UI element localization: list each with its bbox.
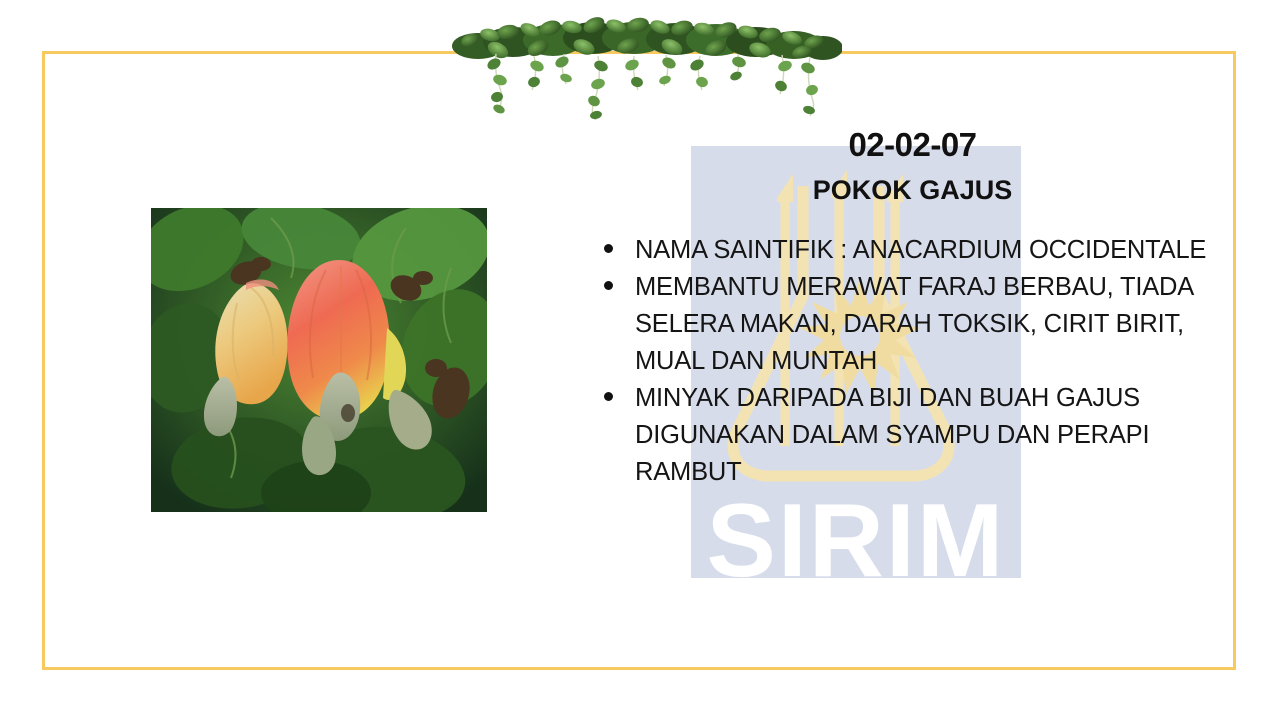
- bullet-dot-icon: [604, 392, 613, 401]
- slide-canvas: SIRIM 02-02-07 POKOK GAJUS NAMA SAINTIFI…: [0, 0, 1280, 720]
- list-item: MEMBANTU MERAWAT FARAJ BERBAU, TIADA SEL…: [560, 269, 1220, 380]
- page-title-code: 02-02-07: [560, 126, 1220, 164]
- ivy-garland-decoration: [438, 2, 842, 120]
- bullet-list: NAMA SAINTIFIK : ANACARDIUM OCCIDENTALE …: [560, 232, 1220, 491]
- list-item-text: NAMA SAINTIFIK : ANACARDIUM OCCIDENTALE: [635, 236, 1206, 264]
- page-title-name: POKOK GAJUS: [560, 174, 1220, 206]
- list-item-text: MEMBANTU MERAWAT FARAJ BERBAU, TIADA SEL…: [635, 273, 1193, 375]
- list-item: NAMA SAINTIFIK : ANACARDIUM OCCIDENTALE: [560, 232, 1220, 269]
- list-item-text: MINYAK DARIPADA BIJI DAN BUAH GAJUS DIGU…: [635, 384, 1149, 486]
- list-item: MINYAK DARIPADA BIJI DAN BUAH GAJUS DIGU…: [560, 380, 1220, 491]
- slide-text-content: 02-02-07 POKOK GAJUS NAMA SAINTIFIK : AN…: [560, 126, 1220, 626]
- cashew-fruit-photo: [151, 208, 487, 512]
- bullet-dot-icon: [604, 281, 613, 290]
- bullet-dot-icon: [604, 244, 613, 253]
